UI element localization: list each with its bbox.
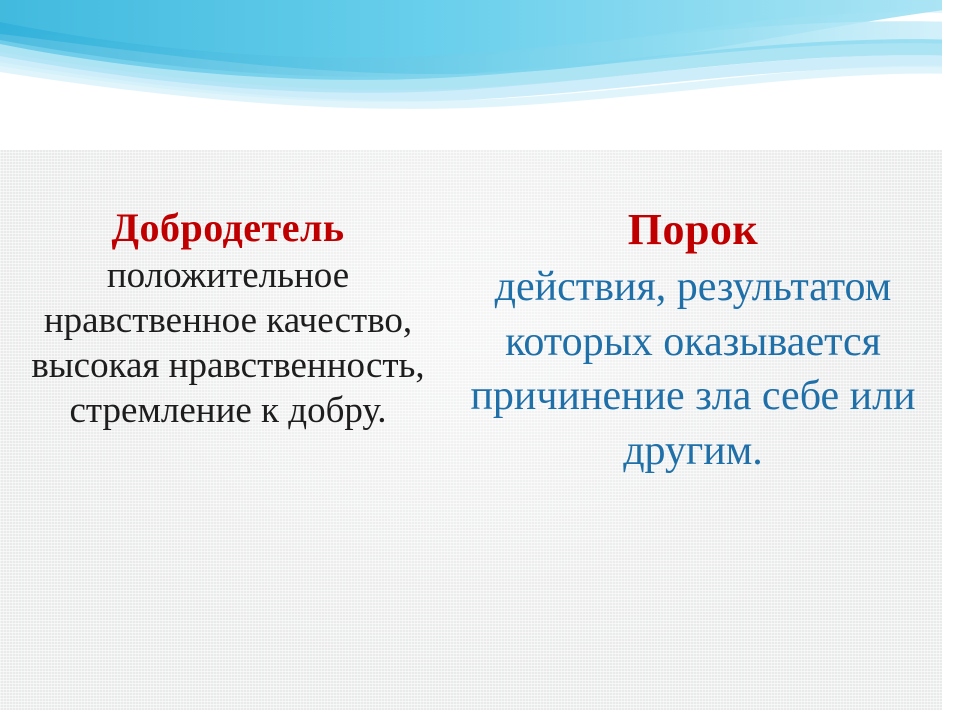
left-definition-column: Добродетель положительное нравственное к… [0,0,448,433]
right-definition-column: Порок действия, результатом которых оказ… [448,0,948,479]
slide: Добродетель положительное нравственное к… [0,0,960,720]
term-virtue: Добродетель [28,206,428,251]
definition-vice: действия, результатом которых оказываетс… [460,260,926,478]
definition-virtue: положительное нравственное качество, выс… [28,253,428,434]
term-vice: Порок [460,205,926,254]
content-columns: Добродетель положительное нравственное к… [0,0,960,720]
